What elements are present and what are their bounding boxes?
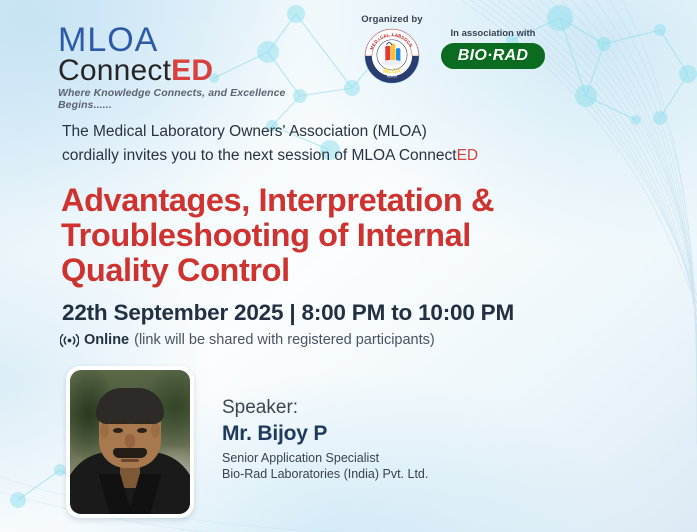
speaker-details: Speaker: Mr. Bijoy P Senior Application … — [222, 396, 522, 482]
photo-eye-left — [113, 428, 123, 433]
organizer-block: Organized by M E D I C A L L A B S O C N — [352, 14, 432, 89]
speaker-role: Senior Application Specialist — [222, 450, 522, 466]
invitation-text: The Medical Laboratory Owners' Associati… — [62, 120, 582, 168]
session-title-line-2: Troubleshooting of Internal — [61, 218, 606, 253]
speaker-photo-frame — [66, 366, 194, 518]
session-mode-row: Online (link will be shared with registe… — [60, 332, 435, 348]
session-datetime: 22th September 2025 | 8:00 PM to 10:00 P… — [62, 300, 514, 326]
photo-nose — [125, 434, 135, 448]
logo-connect-text: Connect — [58, 54, 171, 87]
invitation-line-2: cordially invites you to the next sessio… — [62, 144, 582, 168]
speaker-label: Speaker: — [222, 396, 522, 420]
photo-brow-left — [111, 420, 126, 424]
logo-ed-text: ED — [171, 54, 213, 87]
biorad-logo: BIO·RAD — [441, 43, 545, 69]
event-invitation-poster: MLOA ConnectED Where Knowledge Connects,… — [0, 0, 697, 532]
svg-text:KERALA: KERALA — [387, 74, 397, 78]
mloa-seal-icon: M E D I C A L L A B S O C N MLOA KE — [364, 28, 420, 84]
photo-brow-right — [134, 420, 149, 424]
svg-text:MLOA: MLOA — [383, 68, 402, 75]
photo-mouth — [121, 459, 139, 462]
association-label: In association with — [432, 28, 554, 39]
invitation-line-2-prefix: cordially invites you to the next sessio… — [62, 147, 457, 164]
session-mode-note: (link will be shared with registered par… — [134, 332, 435, 348]
session-title: Advantages, Interpretation & Troubleshoo… — [61, 183, 606, 288]
speaker-organization: Bio-Rad Laboratories (India) Pvt. Ltd. — [222, 466, 522, 482]
logo-mloa-word: MLOA — [58, 24, 328, 57]
speaker-photo — [70, 370, 190, 514]
logo-connected-word: ConnectED — [58, 56, 328, 86]
broadcast-icon — [60, 333, 79, 348]
association-block: In association with BIO·RAD — [432, 28, 554, 69]
mloa-connected-logo: MLOA ConnectED Where Knowledge Connects,… — [58, 24, 328, 111]
speaker-name: Mr. Bijoy P — [222, 421, 522, 447]
organized-by-label: Organized by — [352, 14, 432, 25]
photo-hair — [96, 388, 164, 424]
photo-ear-left — [100, 422, 109, 438]
biorad-logo-text: BIO·RAD — [458, 47, 529, 65]
invitation-line-1: The Medical Laboratory Owners' Associati… — [62, 120, 582, 144]
session-title-line-3: Quality Control — [61, 253, 606, 288]
photo-mustache — [113, 448, 147, 458]
logo-tagline: Where Knowledge Connects, and Excellence… — [58, 87, 328, 111]
photo-ear-right — [151, 422, 160, 438]
session-title-line-1: Advantages, Interpretation & — [61, 183, 606, 218]
photo-eye-right — [137, 428, 147, 433]
invitation-line-2-accent: ED — [457, 147, 479, 164]
session-mode-label: Online — [84, 332, 129, 348]
